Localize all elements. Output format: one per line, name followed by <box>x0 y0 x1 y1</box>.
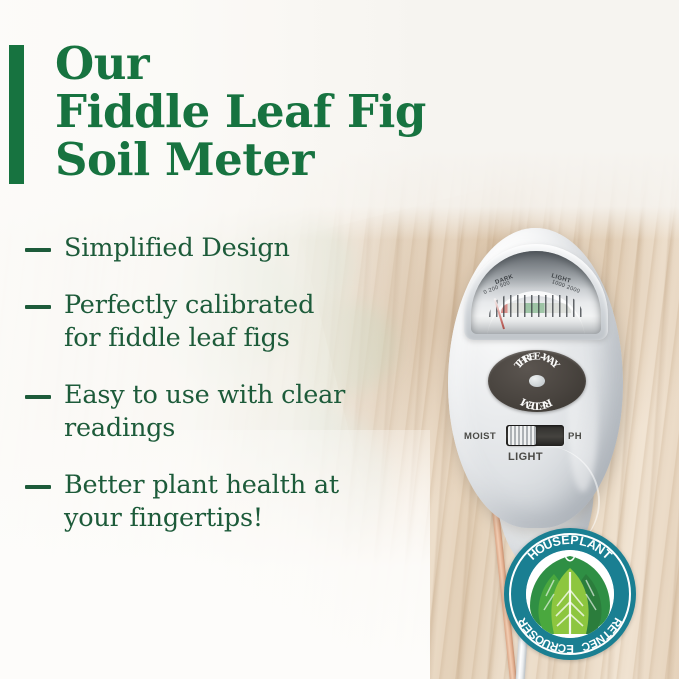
headline-line-3: Soil Meter <box>55 136 485 184</box>
list-item: Better plant health atyour fingertips! <box>25 469 445 535</box>
gauge-ticks <box>489 295 583 317</box>
headline-line-1: Our <box>55 40 485 88</box>
dash-bullet-icon <box>25 485 51 489</box>
dash-bullet-icon <box>25 305 51 309</box>
brand-oval-screw <box>529 375 545 387</box>
list-item: Easy to use with clearreadings <box>25 379 445 445</box>
promo-graphic: Our Fiddle Leaf Fig Soil Meter Simplifie… <box>0 0 679 679</box>
page-title: Our Fiddle Leaf Fig Soil Meter <box>55 40 485 184</box>
gauge-glass-shadow <box>471 251 601 289</box>
gauge-display: DARK LIGHT 0 200 500 1000 2000 <box>471 251 601 334</box>
list-item-label: Perfectly calibratedfor fiddle leaf figs <box>64 289 314 355</box>
list-item: Perfectly calibratedfor fiddle leaf figs <box>25 289 445 355</box>
headline-line-2: Fiddle Leaf Fig <box>55 88 485 136</box>
list-item: Simplified Design <box>25 232 445 265</box>
dash-bullet-icon <box>25 395 51 399</box>
switch-label-light: LIGHT <box>508 451 543 463</box>
switch-knob[interactable] <box>508 426 536 445</box>
switch-label-ph: PH <box>568 431 582 442</box>
list-item-label: Better plant health atyour fingertips! <box>64 469 339 535</box>
list-item-label: Easy to use with clearreadings <box>64 379 345 445</box>
mode-switch[interactable]: MOIST PH LIGHT <box>464 422 588 466</box>
list-item-label: Simplified Design <box>64 232 290 265</box>
gauge-bottom-shade <box>471 316 601 334</box>
headline-accent-bar <box>9 45 24 184</box>
logo-bottom-text: RESOURCE CENTER <box>504 528 636 660</box>
brand-oval: THREE-WAY METER <box>488 350 586 412</box>
houseplant-resource-center-logo: HOUSEPLANT RESOURCE CENTER <box>504 528 636 660</box>
switch-label-moist: MOIST <box>464 431 496 442</box>
feature-list: Simplified Design Perfectly calibratedfo… <box>25 232 445 559</box>
dash-bullet-icon <box>25 248 51 252</box>
